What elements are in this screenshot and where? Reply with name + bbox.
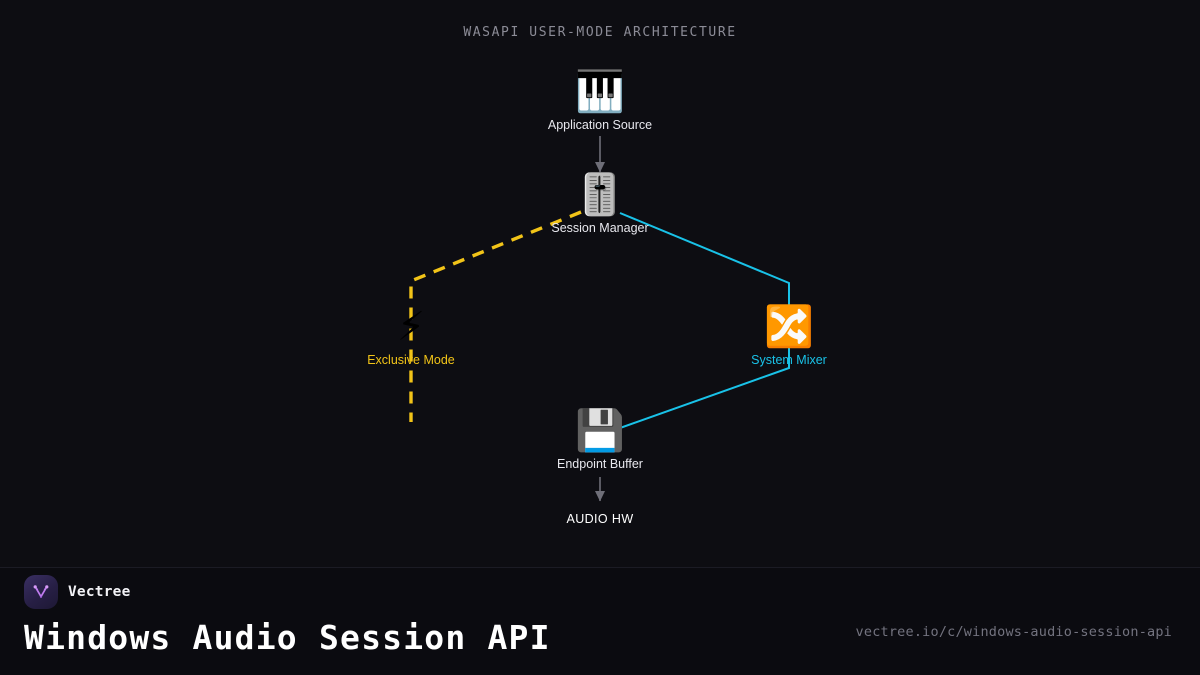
node-exclusive-mode[interactable]: ⚡ Exclusive Mode [331,305,491,367]
node-session-manager[interactable]: 🎚️ Session Manager [520,173,680,235]
node-label-endpoint-buffer: Endpoint Buffer [520,457,680,471]
diagram-title: WASAPI USER-MODE ARCHITECTURE [0,25,1200,40]
shuffle-tracks-icon: 🔀 [709,305,869,349]
floppy-disk-icon: 💾 [520,409,680,453]
piano-keyboard-icon: 🎹 [520,70,680,114]
node-application-source[interactable]: 🎹 Application Source [520,70,680,132]
node-endpoint-buffer[interactable]: 💾 Endpoint Buffer [520,409,680,471]
footer: Vectree Windows Audio Session API [0,568,1200,675]
node-label-application-source: Application Source [520,118,680,132]
node-label-system-mixer: System Mixer [709,353,869,367]
brand-name: Vectree [68,584,131,600]
footer-url: vectree.io/c/windows-audio-session-api [856,624,1172,640]
node-audio-hw: AUDIO HW [500,512,700,526]
node-label-exclusive-mode: Exclusive Mode [331,353,491,367]
vectree-logo-icon [24,575,58,609]
brand-row[interactable]: Vectree [24,575,131,609]
page-title: Windows Audio Session API [24,618,551,657]
page-root: WASAPI USER-MODE ARCHITECTURE 🎹 Applicat… [0,0,1200,675]
level-slider-icon: 🎚️ [520,173,680,217]
high-voltage-icon: ⚡ [331,305,491,349]
node-label-session-manager: Session Manager [520,221,680,235]
node-system-mixer[interactable]: 🔀 System Mixer [709,305,869,367]
